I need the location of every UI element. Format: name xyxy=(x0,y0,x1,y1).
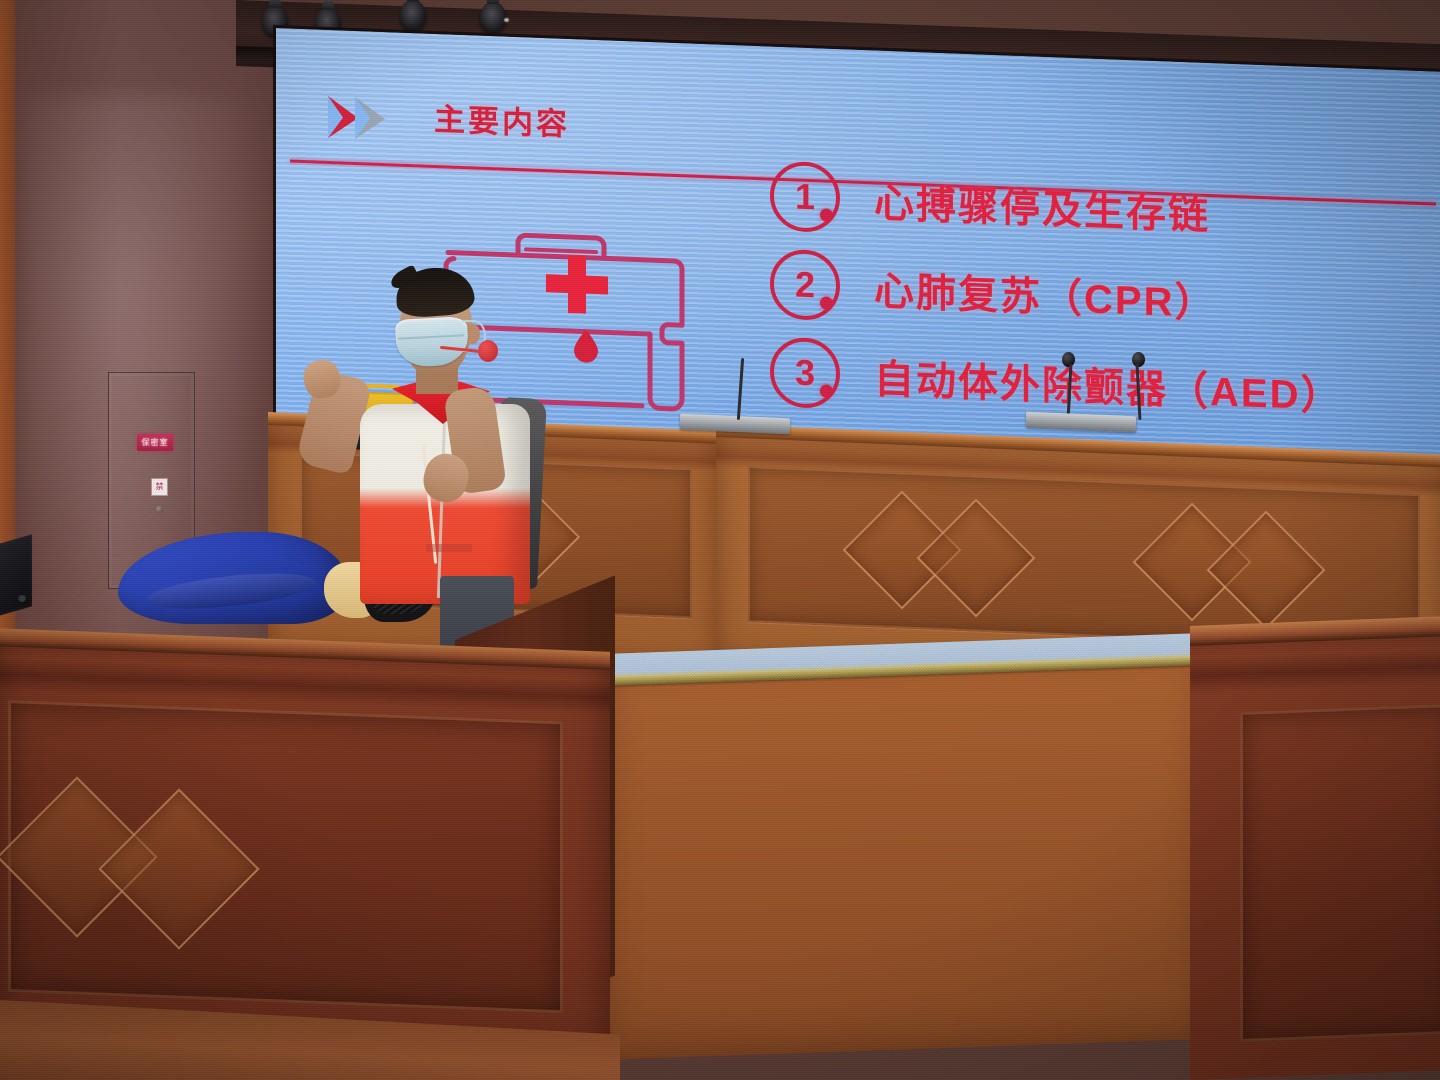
item-number-3: 3 xyxy=(795,354,815,391)
stage-spotlight-4 xyxy=(480,2,506,32)
door-sign: 保密室 xyxy=(137,434,173,451)
door-notice-plate: 禁 xyxy=(151,478,168,496)
presenter-jacket-logo xyxy=(426,544,472,552)
stage-riser-front xyxy=(600,639,1210,1060)
item-number-ring-1: 1 xyxy=(770,161,840,234)
item-label-2: 心肺复苏（CPR） xyxy=(874,258,1216,329)
item-number-1: 1 xyxy=(795,178,815,215)
presenter-headset-windscreen xyxy=(478,340,498,362)
screenshot-root: 保密室 禁 主要内容 xyxy=(0,0,1440,1080)
chevron-group xyxy=(328,96,428,142)
door-knob[interactable] xyxy=(156,506,163,513)
spotlight-glint-2 xyxy=(504,18,509,22)
chevron-gray-notch xyxy=(355,97,370,140)
item-number-dot-1 xyxy=(820,208,833,221)
stage-speaker-monitor xyxy=(0,534,32,617)
item-number-2: 2 xyxy=(795,266,815,303)
item-number-dot-3 xyxy=(820,384,833,397)
item-number-ring-2: 2 xyxy=(770,249,840,322)
item-label-3: 自动体外除颤器（AED） xyxy=(874,346,1342,422)
foreground-desk-right-panel xyxy=(1240,704,1440,1042)
item-number-dot-2 xyxy=(820,296,833,309)
presenter xyxy=(300,268,550,658)
chevron-red-notch xyxy=(328,96,343,139)
stage-spotlight-3 xyxy=(400,0,426,30)
item-label-1: 心搏骤停及生存链 xyxy=(874,170,1210,241)
slide-item-list: 1 心搏骤停及生存链 2 心肺复苏（CPR） 3 xyxy=(770,155,1430,444)
slide-title: 主要内容 xyxy=(434,94,570,144)
speaker-mount-hole xyxy=(18,594,26,602)
item-number-ring-3: 3 xyxy=(770,337,840,410)
